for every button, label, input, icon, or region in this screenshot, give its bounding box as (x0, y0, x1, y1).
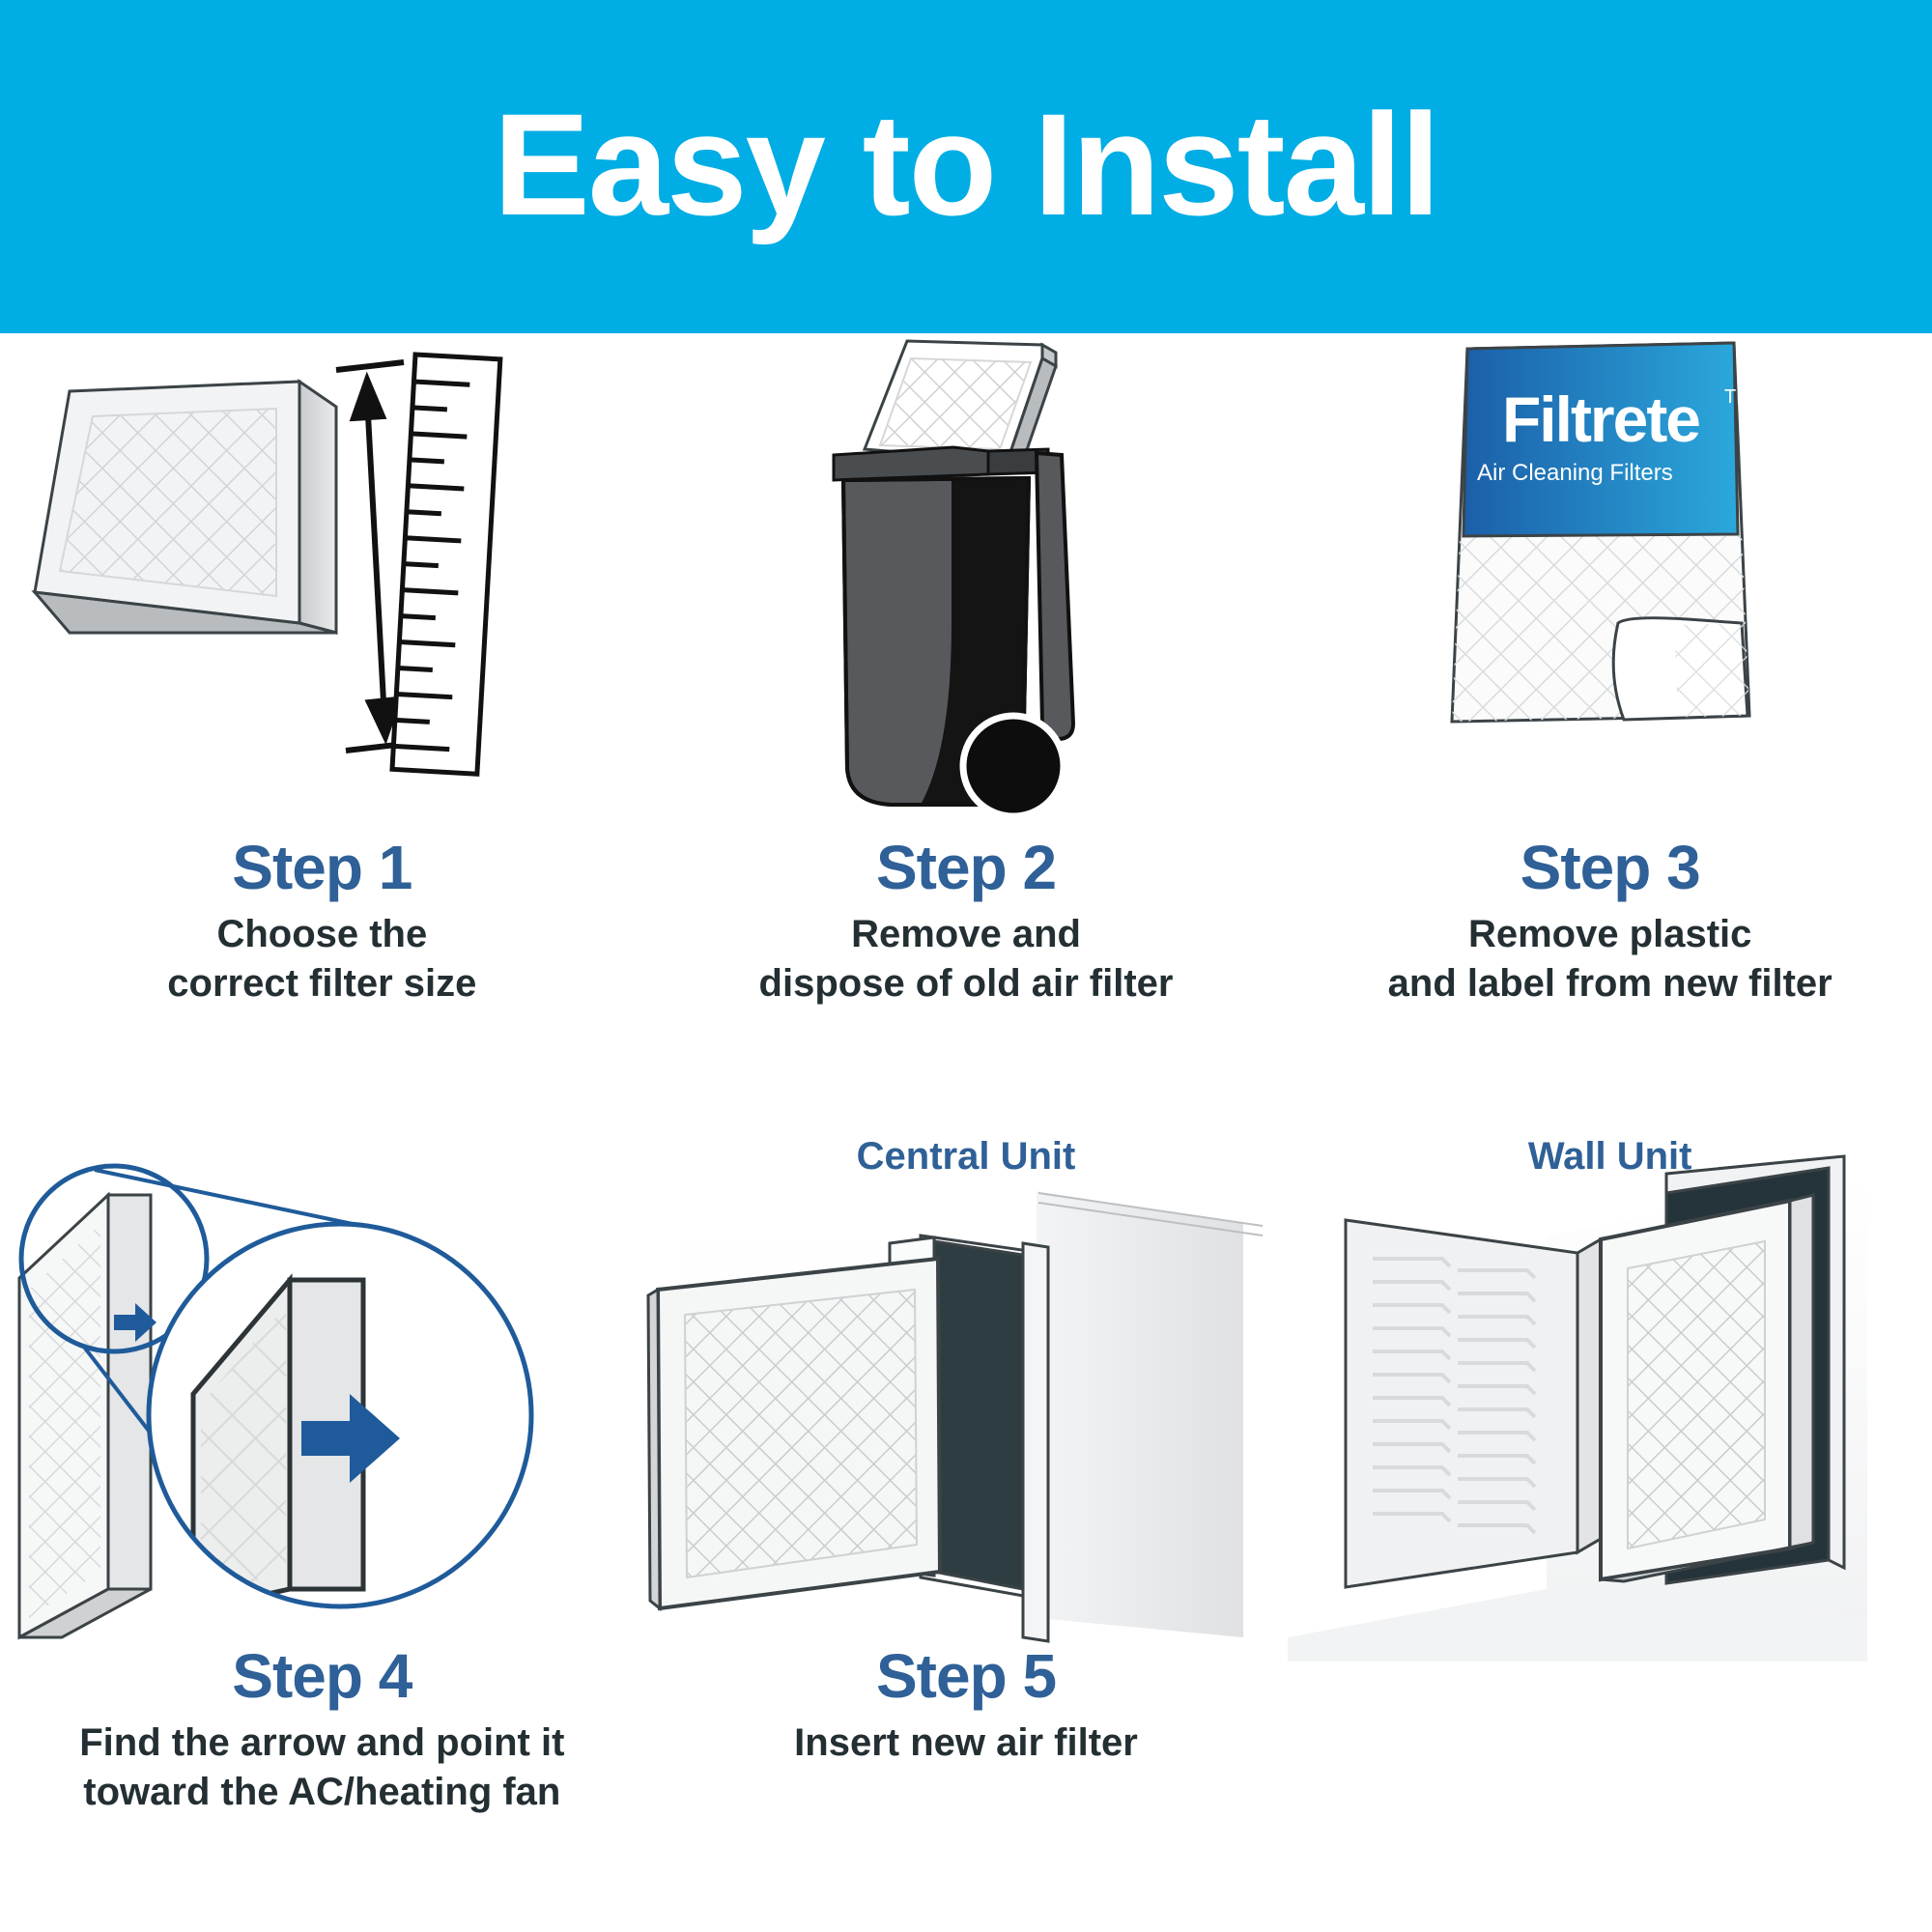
brand-name: Filtrete (1502, 384, 1699, 455)
step-2-description: Remove and dispose of old air filter (644, 910, 1289, 1009)
air-filter-icon (35, 382, 336, 633)
step-1-illustration (0, 333, 644, 836)
louvered-door-icon (1346, 1220, 1601, 1587)
step-card-1: Step 1 Choose the correct filter size (0, 333, 644, 1135)
page-title: Easy to Install (494, 92, 1439, 237)
step-5-caption: Step 5 Insert new air filter (644, 1644, 1289, 1768)
steps-row-bottom: Step 4 Find the arrow and point it towar… (0, 1135, 1932, 1932)
step-1-number: Step 1 (0, 836, 644, 900)
filtrete-package-icon: Filtrete TM Air Cleaning Filters (1442, 343, 1761, 729)
wall-unit-illustration (1288, 1135, 1932, 1662)
filter-inserting-icon (648, 1259, 940, 1608)
bin-lid-icon (834, 447, 1048, 480)
step-3-number: Step 3 (1288, 836, 1932, 900)
step-3-caption: Step 3 Remove plastic and label from new… (1288, 836, 1932, 1009)
ruler-icon (392, 355, 500, 774)
step-card-5-wall: Wall Unit (1288, 1135, 1932, 1932)
step-4-number: Step 4 (0, 1644, 644, 1709)
wall-right-panel (1037, 1191, 1243, 1637)
step-3-illustration: Filtrete TM Air Cleaning Filters (1288, 333, 1932, 836)
step-5-number: Step 5 (644, 1644, 1289, 1709)
brand-trademark: TM (1724, 386, 1752, 408)
step-2-number: Step 2 (644, 836, 1289, 900)
step-4-description: Find the arrow and point it toward the A… (0, 1719, 644, 1817)
duct-opening (934, 1241, 1023, 1589)
brand-tagline: Air Cleaning Filters (1477, 460, 1673, 486)
step-5-description: Insert new air filter (644, 1719, 1289, 1768)
central-unit-illustration (644, 1135, 1289, 1662)
step-2-illustration (644, 333, 1289, 836)
step-card-5-central: Central Unit (644, 1135, 1289, 1932)
step-card-4: Step 4 Find the arrow and point it towar… (0, 1135, 644, 1932)
filter-in-wall-icon (1601, 1195, 1813, 1581)
step-card-3: Filtrete TM Air Cleaning Filters Step 3 … (1288, 333, 1932, 1135)
step-1-description: Choose the correct filter size (0, 910, 644, 1009)
step-4-illustration (0, 1135, 644, 1662)
step-1-caption: Step 1 Choose the correct filter size (0, 836, 644, 1009)
step-3-description: Remove plastic and label from new filter (1288, 910, 1932, 1009)
step-2-caption: Step 2 Remove and dispose of old air fil… (644, 836, 1289, 1009)
bin-wheel-icon (963, 716, 1064, 816)
steps-row-top: Step 1 Choose the correct filter size (0, 333, 1932, 1135)
bin-handle-icon (1037, 453, 1073, 739)
step-card-2: Step 2 Remove and dispose of old air fil… (644, 333, 1289, 1135)
page-header: Easy to Install (0, 0, 1932, 333)
step-4-caption: Step 4 Find the arrow and point it towar… (0, 1644, 644, 1818)
